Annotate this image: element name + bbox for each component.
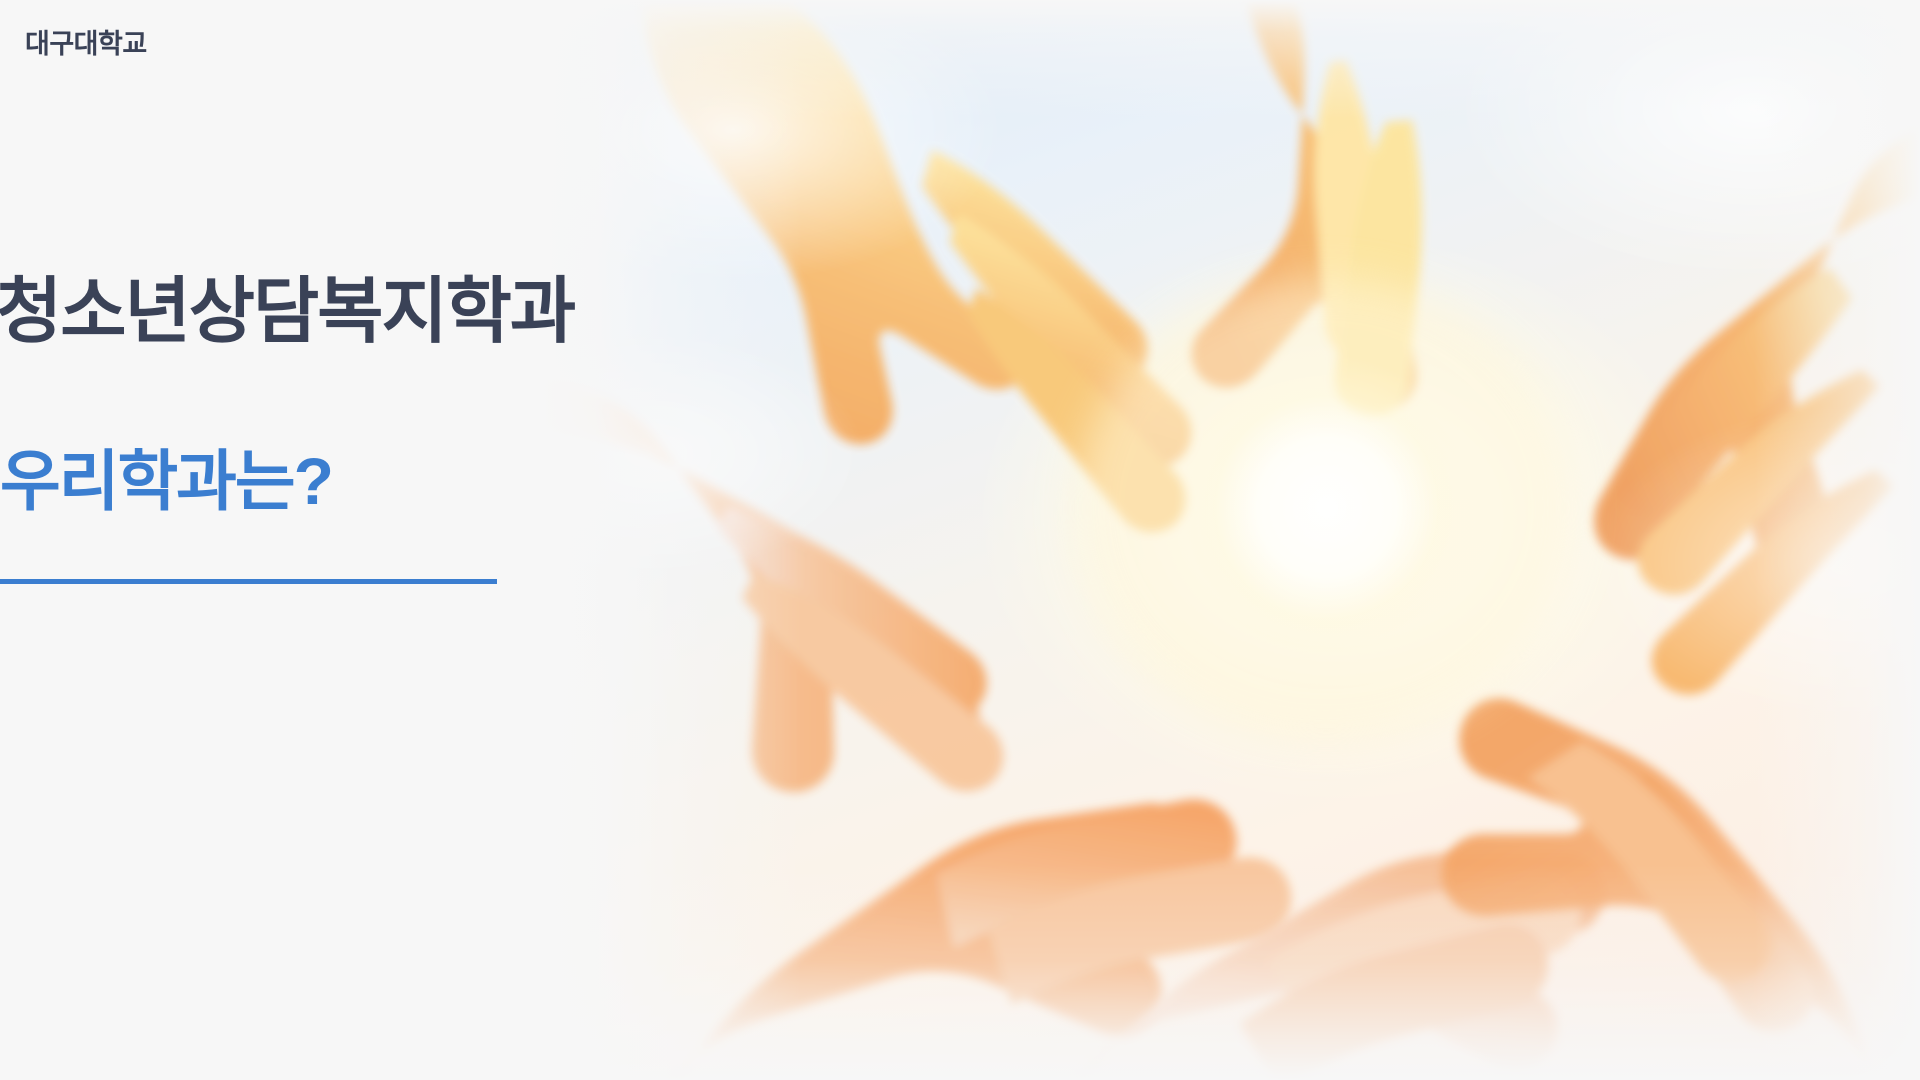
university-logo: 대구대학교 (25, 22, 147, 61)
slide-root: 대구대학교 청소년상담복지학과 우리학과는? (0, 0, 1920, 1080)
accent-underline (0, 579, 497, 584)
page-subtitle: 우리학과는? (0, 428, 332, 524)
hands-illustration (540, 0, 1920, 1080)
hands-circle-photo (540, 0, 1920, 1080)
page-title: 청소년상담복지학과 (0, 252, 574, 357)
